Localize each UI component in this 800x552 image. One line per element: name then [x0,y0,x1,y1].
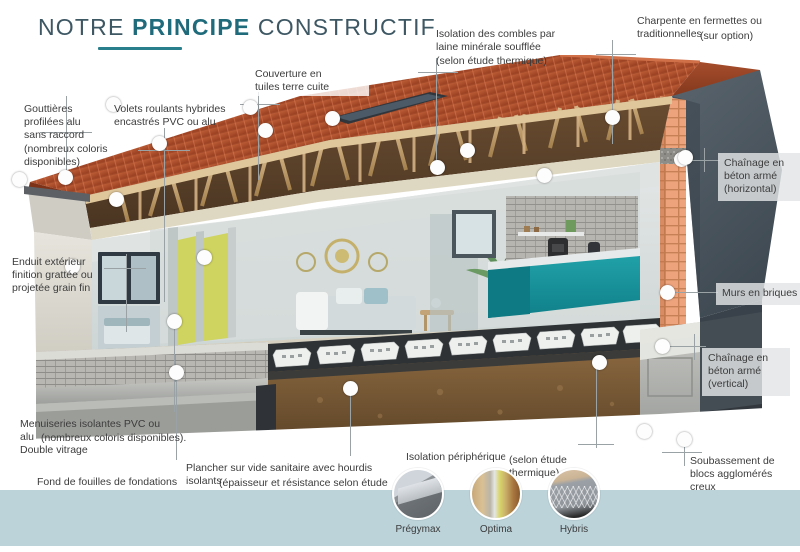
hybris-label: Hybris [546,524,602,535]
product-chips: Prégymax Optima Hybris [390,468,630,552]
optima-swatch-icon [470,468,522,520]
callout-isolation-peri-main: Isolation périphérique [402,449,522,466]
leader-menuiseries [174,316,175,412]
dot-interior-wall[interactable] [197,250,212,265]
diagram-canvas: NOTRE PRINCIPE CONSTRUCTIF [0,0,800,552]
dot-gouttieres-eave[interactable] [58,170,73,185]
leader-isolation-peri [596,360,597,448]
dot-plancher[interactable] [343,381,358,396]
front-wall-render [34,232,92,360]
dot-murs-briques[interactable] [660,285,675,300]
dot-attic-left[interactable] [152,136,167,151]
dot-fond-fouilles[interactable] [169,365,184,380]
leader-chainage-h-cross [704,148,705,172]
callout-gouttieres-sub: (nombreux coloris disponibles) [24,143,136,169]
leader-plancher [350,386,351,456]
leader-fond-fouilles [176,372,177,460]
leader-volets [164,128,165,302]
callout-soubassement-main: Soubassement de blocs agglomérés creux [690,455,796,494]
product-optima[interactable]: Optima [468,468,524,535]
dot-combles[interactable] [430,160,445,175]
dot-menuiseries[interactable] [167,314,182,329]
dot-volet-box[interactable] [109,192,124,207]
dot-combles-2[interactable] [460,143,475,158]
pregymax-label: Prégymax [390,524,446,535]
leader-murs [672,292,718,293]
callout-chainage-h-main: Chaînage en béton armé (horizontal) [718,153,800,201]
dot-chainage-v[interactable] [655,339,670,354]
optima-label: Optima [468,524,524,535]
callout-volets-main: Volets roulants hybrides encastrés PVC o… [114,103,304,129]
leader-isolation-peri-cross [578,444,614,445]
callout-murs-main: Murs en briques [716,283,800,305]
callout-couverture-main: Couverture en tuiles terre cuite [251,66,369,96]
callout-chainage-v-main: Chaînage en béton armé (vertical) [702,348,790,396]
leader-soubassement [662,452,702,453]
dot-soubassement[interactable] [637,424,652,439]
product-pregymax[interactable]: Prégymax [390,468,446,535]
leader-volets-cross [138,150,190,151]
callout-menuiseries-main2: Double vitrage [20,444,160,457]
dot-chainage-h2[interactable] [678,150,693,165]
callout-enduit-main: Enduit extérieur finition grattée ou pro… [12,256,130,295]
leader-combles-cross [418,72,458,73]
callout-charpente-sub: (sur option) [700,30,800,43]
dot-gouttieres[interactable] [12,172,27,187]
wall-insulation-yellow [178,236,196,345]
dot-charpente[interactable] [605,110,620,125]
leader-chainage-v-cross [694,334,695,360]
leader-isolation-combles [436,58,437,162]
dot-ceiling[interactable] [537,168,552,183]
dot-roof-skylight[interactable] [325,111,340,126]
dot-soubassement-2[interactable] [677,432,692,447]
dot-isolation-peri[interactable] [592,355,607,370]
callout-combles-main: Isolation des combles par laine minérale… [436,28,646,54]
pregymax-swatch-icon [392,468,444,520]
product-hybris[interactable]: Hybris [546,468,602,535]
hybris-swatch-icon [548,468,600,520]
callout-combles-sub: (selon étude thermique) [436,55,636,68]
